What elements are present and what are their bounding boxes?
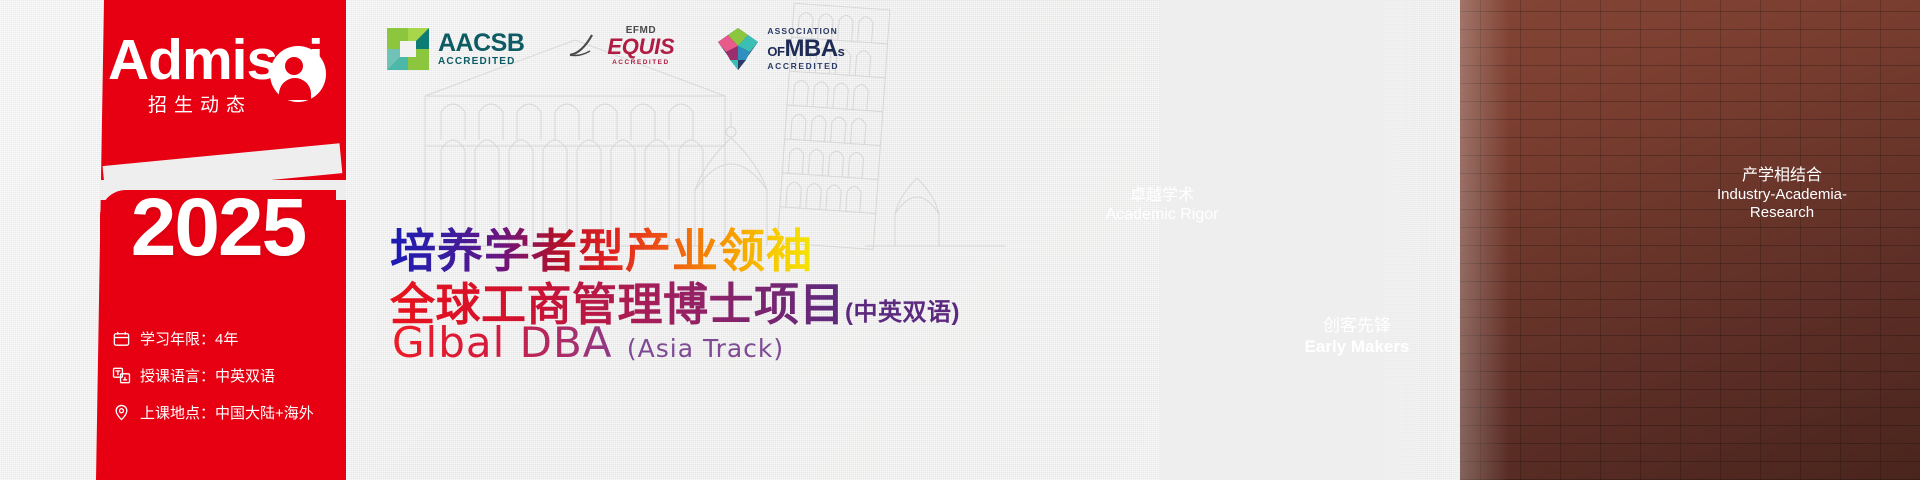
logo-amba: ASSOCIATION OFMBAs ACCREDITED	[716, 26, 844, 72]
person-in-circle-icon	[270, 46, 326, 102]
amba-status: ACCREDITED	[767, 62, 844, 71]
badge-cn-makers: 创客先锋	[1242, 316, 1472, 337]
amba-main-text: MBA	[784, 35, 837, 62]
admission-logo: Admissi 招生动态	[100, 28, 350, 148]
headline-program-en: Glbal DBA (Asia Track)	[392, 318, 784, 367]
efmd-swoosh-icon	[566, 29, 600, 63]
equis-status: ACCREDITED	[607, 60, 674, 67]
badge-en-industry-line1: Industry-Academia-	[1672, 186, 1892, 204]
badge-cn-industry: 产学相结合	[1672, 166, 1892, 186]
photo-collage	[1160, 0, 1920, 480]
program-info-list: 学习年限：4年 授课语言：中英双语 上课地点：中国	[112, 328, 342, 439]
location-pin-icon	[112, 403, 131, 422]
amba-diamond-icon	[716, 26, 760, 72]
amba-text: ASSOCIATION OFMBAs ACCREDITED	[767, 27, 844, 70]
badge-text-early-makers: 创客先锋 Early Makers	[1242, 316, 1472, 357]
admission-wordmark-cn: 招生动态	[148, 90, 252, 117]
badge-cn-academic: 卓越学术	[1072, 186, 1252, 205]
badge-en-makers: Early Makers	[1242, 337, 1472, 358]
logo-aacsb: AACSB ACCREDITED	[385, 26, 524, 72]
calendar-icon	[112, 329, 131, 348]
program-bilingual-note: (中英双语)	[845, 299, 960, 326]
badge-text-academic-rigor: 卓越学术 Academic Rigor	[1072, 186, 1252, 224]
info-row-language: 授课语言：中英双语	[112, 365, 342, 386]
info-text-language: 授课语言：中英双语	[140, 365, 275, 386]
info-text-duration: 学习年限：4年	[140, 328, 238, 349]
program-track-en: (Asia Track)	[627, 334, 784, 363]
info-row-location: 上课地点：中国大陆+海外	[112, 402, 342, 423]
accreditation-logos: AACSB ACCREDITED EFMD EQUIS ACCREDITED	[385, 26, 844, 78]
amba-of: OF	[767, 44, 784, 59]
equis-text: EFMD EQUIS ACCREDITED	[607, 26, 674, 67]
info-text-location: 上课地点：中国大陆+海外	[140, 402, 314, 423]
aacsb-text: AACSB ACCREDITED	[438, 31, 524, 67]
badge-en-industry-line2: Research	[1672, 204, 1892, 222]
program-name-en: Glbal DBA	[392, 318, 613, 367]
equis-name: EQUIS	[607, 36, 674, 58]
badge-text-industry-academia-research: 产学相结合 Industry-Academia- Research	[1672, 166, 1892, 222]
admission-banner: 卓越学术 Academic Rigor 产学相结合 Industry-Acade…	[0, 0, 1920, 480]
aacsb-cube-icon	[385, 26, 431, 72]
aacsb-name: AACSB	[438, 31, 524, 56]
amba-name: OFMBAs	[767, 36, 844, 61]
info-row-duration: 学习年限：4年	[112, 328, 342, 349]
aacsb-status: ACCREDITED	[438, 57, 524, 67]
language-icon	[112, 366, 131, 385]
badge-en-academic: Academic Rigor	[1072, 205, 1252, 224]
year-label: 2025	[100, 185, 336, 271]
collage-fade-overlay	[1160, 0, 1920, 480]
logo-equis: EFMD EQUIS ACCREDITED	[566, 26, 674, 67]
